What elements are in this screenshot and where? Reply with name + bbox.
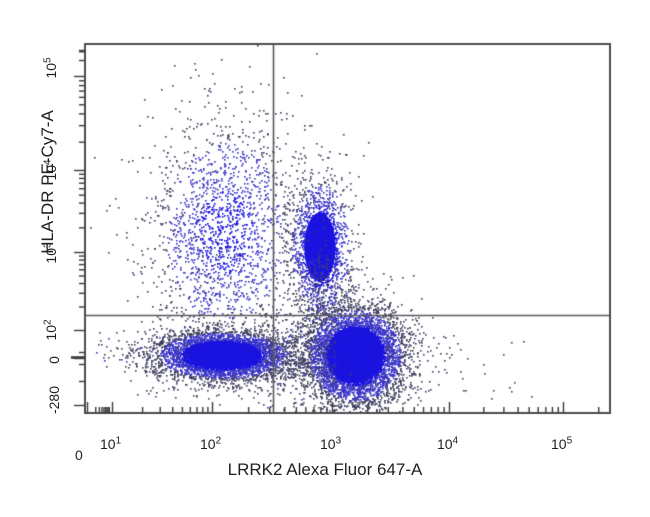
x-tick-label-10e5: 105 bbox=[551, 436, 572, 452]
y-tick-label-min: -280 bbox=[46, 372, 62, 428]
x-axis-title: LRRK2 Alexa Fluor 647-A bbox=[0, 460, 650, 480]
x-tick-label-10e2: 102 bbox=[200, 436, 221, 452]
x-tick-label-10e4: 104 bbox=[437, 436, 458, 452]
x-tick-label-10e1: 101 bbox=[100, 436, 121, 452]
x-tick-label-10e3: 103 bbox=[320, 436, 341, 452]
y-axis-title: HLA-DR PE-Cy7-A bbox=[38, 32, 58, 332]
y-tick-label-0: 0 bbox=[46, 350, 62, 370]
flow-cytometry-figure: 0 101 102 103 104 105 105 104 103 102 0 … bbox=[0, 0, 650, 517]
